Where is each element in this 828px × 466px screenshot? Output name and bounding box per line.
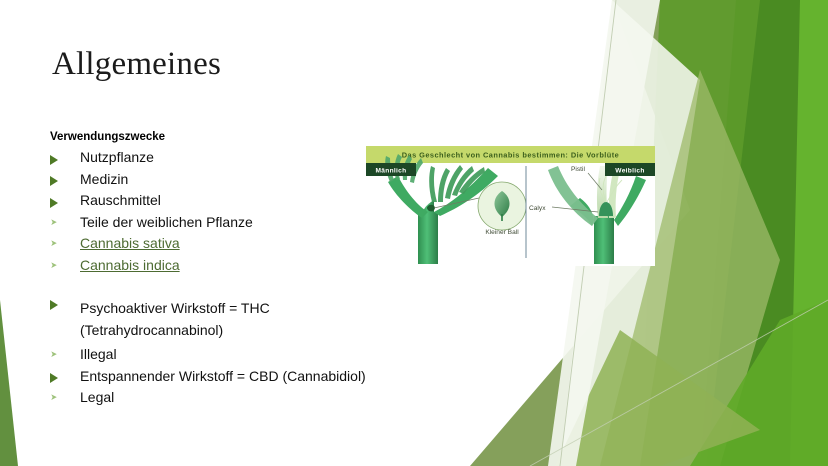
list-item-hyperlink-cannabis-sativa[interactable]: Cannabis sativa xyxy=(50,233,380,255)
female-tag-label: Weiblich xyxy=(615,167,644,174)
list-item-label: Illegal xyxy=(80,346,117,362)
male-callout-label: Kleiner Ball xyxy=(485,229,519,236)
male-tag-label: Männlich xyxy=(376,167,407,174)
list-item-label: Teile der weiblichen Pflanze xyxy=(80,214,253,230)
list-item: Illegal xyxy=(50,344,380,366)
slide-title: Allgemeines xyxy=(52,44,221,84)
list-item: Rauschmittel xyxy=(50,190,380,212)
male-ball-node xyxy=(427,205,435,211)
cannabis-gender-diagram-image: Das Geschlecht von Cannabis bestimmen: D… xyxy=(366,146,655,266)
female-calyx-label: Calyx xyxy=(529,205,546,212)
presentation-slide: Allgemeines Verwendungszwecke Nutzpflanz… xyxy=(0,0,828,466)
list-item: Teile der weiblichen Pflanze xyxy=(50,212,380,234)
slide-body-content: Verwendungszwecke Nutzpflanze Medizin Ra… xyxy=(50,130,380,409)
deco-corner-bottom-left xyxy=(0,300,18,466)
list-item-label-line2: (Tetrahydrocannabinol) xyxy=(80,322,223,338)
bullet-list-primary: Nutzpflanze Medizin Rauschmittel Teile d… xyxy=(50,147,380,276)
list-item: Medizin xyxy=(50,169,380,191)
list-item-label: Nutzpflanze xyxy=(80,149,154,165)
deco-hairline-lower xyxy=(530,300,828,466)
deco-shape-mid-green xyxy=(640,0,760,466)
list-item: Psychoaktiver Wirkstoff = THC (Tetrahydr… xyxy=(50,296,380,344)
deco-shape-dark-right xyxy=(700,0,828,466)
list-item-hyperlink-cannabis-indica[interactable]: Cannabis indica xyxy=(50,255,380,277)
list-item: Legal xyxy=(50,387,380,409)
list-item: Nutzpflanze xyxy=(50,147,380,169)
deco-shape-lower-left-light xyxy=(555,330,760,466)
section-heading-verwendungszwecke: Verwendungszwecke xyxy=(50,130,380,144)
hyperlink-label[interactable]: Cannabis indica xyxy=(80,257,180,273)
list-item: Entspannender Wirkstoff = CBD (Cannabidi… xyxy=(50,366,380,388)
list-item-label: Entspannender Wirkstoff = CBD (Cannabidi… xyxy=(80,368,366,384)
female-pistil-label: Pistil xyxy=(571,166,585,173)
bullet-list-secondary: Psychoaktiver Wirkstoff = THC (Tetrahydr… xyxy=(50,296,380,409)
hyperlink-label[interactable]: Cannabis sativa xyxy=(80,235,180,251)
deco-shape-bright-right xyxy=(790,0,828,466)
deco-shape-lower-accent xyxy=(690,300,828,466)
picture-banner-title: Das Geschlecht von Cannabis bestimmen: D… xyxy=(402,151,619,160)
list-item-label-line1: Psychoaktiver Wirkstoff = THC xyxy=(80,300,270,316)
deco-shape-pale-olive xyxy=(600,70,780,466)
list-item-label: Medizin xyxy=(80,171,128,187)
list-item-label: Legal xyxy=(80,389,114,405)
list-item-label: Rauschmittel xyxy=(80,192,161,208)
list-gap-spacer xyxy=(50,276,380,296)
